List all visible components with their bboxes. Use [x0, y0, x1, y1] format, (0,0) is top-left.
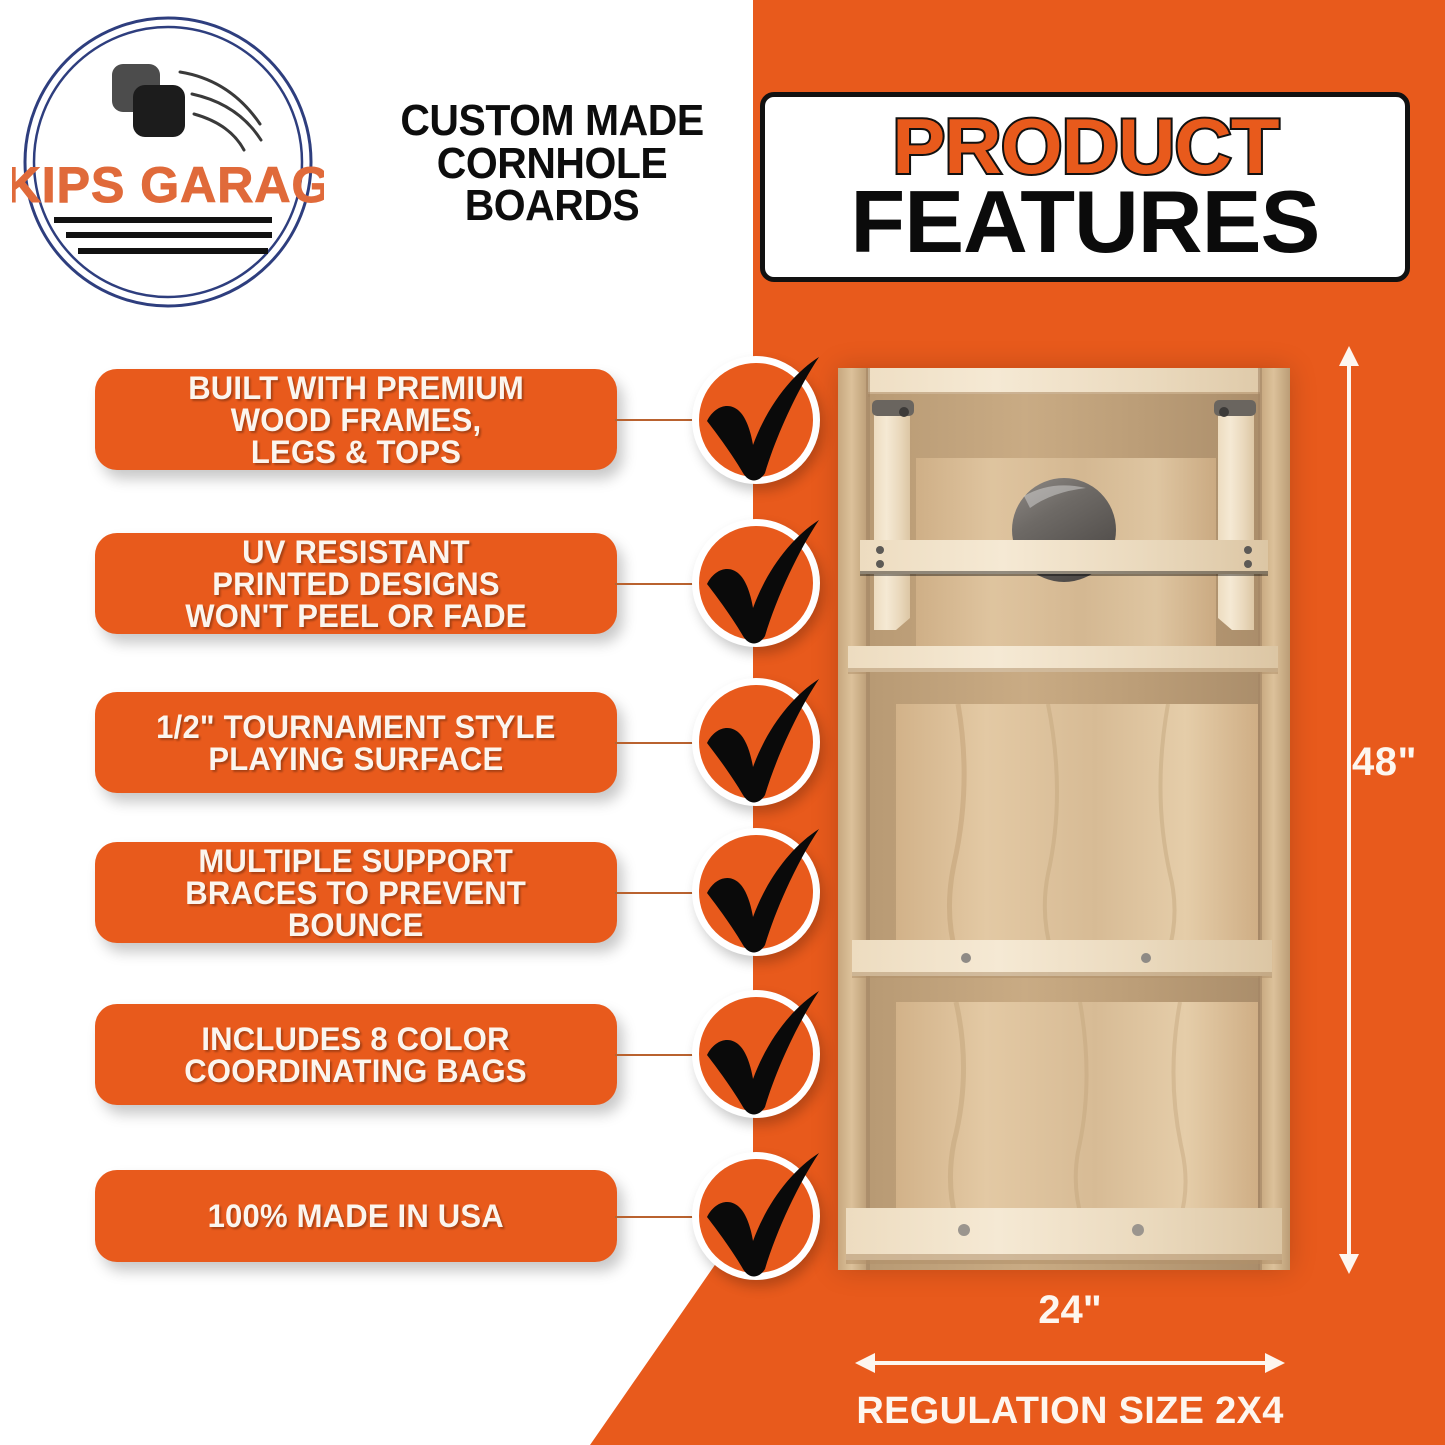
brand-logo: SKIPS GARAGE — [12, 12, 324, 312]
feature-line: BUILT WITH PREMIUM — [188, 372, 524, 404]
feature-line: 100% MADE IN USA — [208, 1200, 504, 1232]
headline-line-2: CORNHOLE — [362, 143, 741, 186]
feature-line: PRINTED DESIGNS — [185, 568, 526, 600]
feature-line: LEGS & TOPS — [188, 436, 524, 468]
feature-pill-support-braces[interactable]: MULTIPLE SUPPORT BRACES TO PREVENT BOUNC… — [95, 842, 617, 943]
feature-pill-bags-included[interactable]: INCLUDES 8 COLOR COORDINATING BAGS — [95, 1004, 617, 1105]
check-icon — [692, 519, 820, 647]
feature-line: WOOD FRAMES, — [188, 404, 524, 436]
infographic-canvas: SKIPS GARAGE CUSTOM MADE CORNHOLE BOARDS… — [0, 0, 1445, 1445]
check-icon — [692, 1152, 820, 1280]
feature-line: BRACES TO PREVENT — [186, 877, 527, 909]
headline-line-3: BOARDS — [362, 185, 741, 228]
feature-pill-playing-surface[interactable]: 1/2" TOURNAMENT STYLE PLAYING SURFACE — [95, 692, 617, 793]
feature-line: WON'T PEEL OR FADE — [185, 600, 526, 632]
width-dimension-arrow — [855, 1352, 1285, 1374]
height-dimension-arrow — [1338, 346, 1360, 1274]
feature-line: MULTIPLE SUPPORT — [186, 845, 527, 877]
feature-pill-premium-wood[interactable]: BUILT WITH PREMIUM WOOD FRAMES, LEGS & T… — [95, 369, 617, 470]
logo-wordmark: SKIPS GARAGE — [12, 157, 324, 213]
headline-line-1: CUSTOM MADE — [362, 100, 741, 143]
badge-line-product: PRODUCT — [892, 113, 1278, 180]
check-icon — [692, 828, 820, 956]
feature-line: PLAYING SURFACE — [156, 743, 555, 775]
regulation-size-label: REGULATION SIZE 2X4 — [820, 1390, 1320, 1433]
product-photo-cornhole-board — [838, 368, 1290, 1270]
width-dimension-label: 24" — [855, 1288, 1285, 1333]
check-icon — [692, 356, 820, 484]
feature-line: BOUNCE — [186, 909, 527, 941]
product-features-badge: PRODUCT FEATURES — [760, 92, 1410, 282]
feature-pill-made-in-usa[interactable]: 100% MADE IN USA — [95, 1170, 617, 1262]
height-dimension-label: 48" — [1352, 740, 1417, 785]
badge-line-features: FEATURES — [851, 182, 1320, 261]
check-icon — [692, 678, 820, 806]
feature-line: COORDINATING BAGS — [185, 1055, 527, 1087]
feature-line: 1/2" TOURNAMENT STYLE — [156, 711, 555, 743]
check-icon — [692, 990, 820, 1118]
page-title: CUSTOM MADE CORNHOLE BOARDS — [362, 100, 741, 228]
feature-line: INCLUDES 8 COLOR — [185, 1023, 527, 1055]
feature-line: UV RESISTANT — [185, 536, 526, 568]
feature-pill-uv-resistant[interactable]: UV RESISTANT PRINTED DESIGNS WON'T PEEL … — [95, 533, 617, 634]
